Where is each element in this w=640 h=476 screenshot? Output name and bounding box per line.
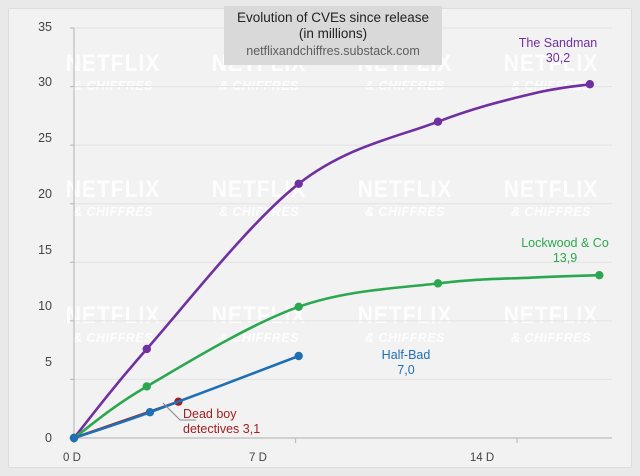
y-tick-label: 30 [18, 75, 52, 89]
data-point-marker [586, 80, 594, 88]
y-tick-label: 15 [18, 243, 52, 257]
gridlines [74, 28, 612, 379]
series-label-deadboy: Dead boy detectives 3,1 [183, 407, 315, 437]
chart-root: NETFLIX & CHIFFRES NETFLIX & CHIFFRES NE… [0, 0, 640, 476]
chart-title-line1: Evolution of CVEs since release [228, 10, 438, 26]
series-label-lockwood: Lockwood & Co 13,9 [500, 236, 630, 266]
series-label-text: Lockwood & Co [500, 236, 630, 251]
data-point-marker [434, 279, 442, 287]
x-tick-label: 0 D [42, 452, 102, 464]
y-tick-label: 20 [18, 187, 52, 201]
series-value-text: 7,0 [366, 363, 446, 378]
data-point-marker [595, 271, 603, 279]
series-label-text: The Sandman [496, 36, 620, 51]
x-tick-label: 14 D [452, 452, 512, 464]
series-label-sandman: The Sandman 30,2 [496, 36, 620, 66]
data-point-marker [294, 180, 302, 188]
series-label-text2: detectives [183, 422, 239, 436]
series-value-number: 3,1 [243, 422, 260, 436]
y-tick-label: 0 [18, 431, 52, 445]
series-label-text: Dead boy [183, 407, 315, 422]
series-lockwood-co [70, 271, 604, 442]
chart-title-box: Evolution of CVEs since release (in mill… [224, 6, 442, 65]
data-point-marker [434, 118, 442, 126]
series-label-text: Half-Bad [366, 348, 446, 363]
series-label-halfbad: Half-Bad 7,0 [366, 348, 446, 378]
series-value-text: 30,2 [496, 51, 620, 66]
y-tick-label: 35 [18, 20, 52, 34]
x-tick-label: 7 D [228, 452, 288, 464]
data-point-marker [143, 345, 151, 353]
chart-source-label: netflixandchiffres.substack.com [228, 43, 438, 60]
data-point-marker [143, 382, 151, 390]
data-point-marker [70, 434, 78, 442]
data-point-marker [146, 408, 154, 416]
data-point-marker [294, 303, 302, 311]
data-point-marker [294, 352, 302, 360]
series-value-text: 13,9 [500, 251, 630, 266]
series-value-text: detectives 3,1 [183, 422, 315, 437]
y-tick-label: 25 [18, 131, 52, 145]
y-tick-label: 10 [18, 299, 52, 313]
chart-title-line2: (in millions) [228, 26, 438, 42]
y-tick-label: 5 [18, 355, 52, 369]
